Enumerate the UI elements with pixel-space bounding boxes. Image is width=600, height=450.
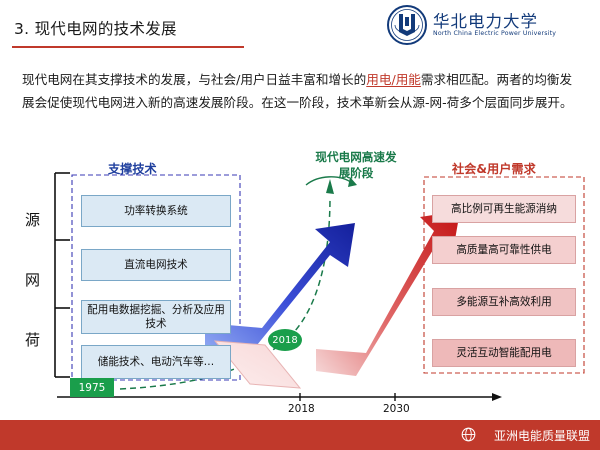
axis-year-2030: 2030 — [383, 403, 410, 415]
paragraph-line1-part1: 现代电网在其支撑技术的发展，与社会/用户日益丰富和增长的 — [22, 72, 366, 87]
demand-box-1[interactable]: 高比例可再生能源消纳 — [432, 195, 576, 223]
university-crest-icon — [387, 5, 427, 45]
demand-box-4[interactable]: 灵活互动智能配用电 — [432, 339, 576, 367]
title-underline — [12, 46, 244, 48]
page-title: 3. 现代电网的技术发展 — [14, 17, 177, 39]
paragraph-line3: 从源-网-荷多个层面同步展开。 — [400, 95, 573, 110]
university-name-cn: 华北电力大学 — [433, 8, 538, 32]
slide: 3. 现代电网的技术发展 华北电力大学 North China Electric… — [0, 0, 600, 450]
paragraph-line1-part2: 需求相匹配。 — [421, 72, 497, 87]
paragraph-highlight: 用电/用能 — [366, 72, 421, 87]
tech-box-3[interactable]: 配用电数据挖掘、分析及应用技术 — [81, 300, 231, 334]
tech-box-1[interactable]: 功率转换系统 — [81, 195, 231, 227]
axis-year-2018: 2018 — [288, 403, 315, 415]
axis-label-source: 源 — [25, 209, 40, 230]
column-title-support: 支撑技术 — [108, 159, 157, 177]
globe-icon — [461, 427, 476, 442]
column-title-stage: 现代电网高速发展阶段 — [311, 149, 401, 181]
axis-label-load: 荷 — [25, 329, 40, 350]
axis-label-network: 网 — [25, 269, 40, 290]
slide-header: 3. 现代电网的技术发展 华北电力大学 North China Electric… — [0, 0, 600, 52]
university-name-en: North China Electric Power University — [433, 30, 556, 37]
demand-box-2[interactable]: 高质量高可靠性供电 — [432, 236, 576, 264]
year-badge-2018: 2018 — [268, 329, 302, 351]
column-title-demand: 社会&用户需求 — [452, 159, 536, 177]
university-logo: 华北电力大学 North China Electric Power Univer… — [387, 4, 592, 48]
slide-footer: 亚洲电能质量联盟 — [0, 420, 600, 450]
year-badge-start: 1975 — [70, 378, 114, 397]
footer-label: 亚洲电能质量联盟 — [494, 427, 590, 444]
tech-box-4[interactable]: 储能技术、电动汽车等… — [81, 345, 231, 379]
tech-box-2[interactable]: 直流电网技术 — [81, 249, 231, 281]
body-paragraph: 现代电网在其支撑技术的发展，与社会/用户日益丰富和增长的用电/用能需求相匹配。两… — [22, 68, 584, 114]
demand-box-3[interactable]: 多能源互补高效利用 — [432, 288, 576, 316]
diagram-area: 支撑技术 现代电网高速发展阶段 社会&用户需求 源 网 荷 功率转换系统 直流电… — [0, 145, 600, 420]
